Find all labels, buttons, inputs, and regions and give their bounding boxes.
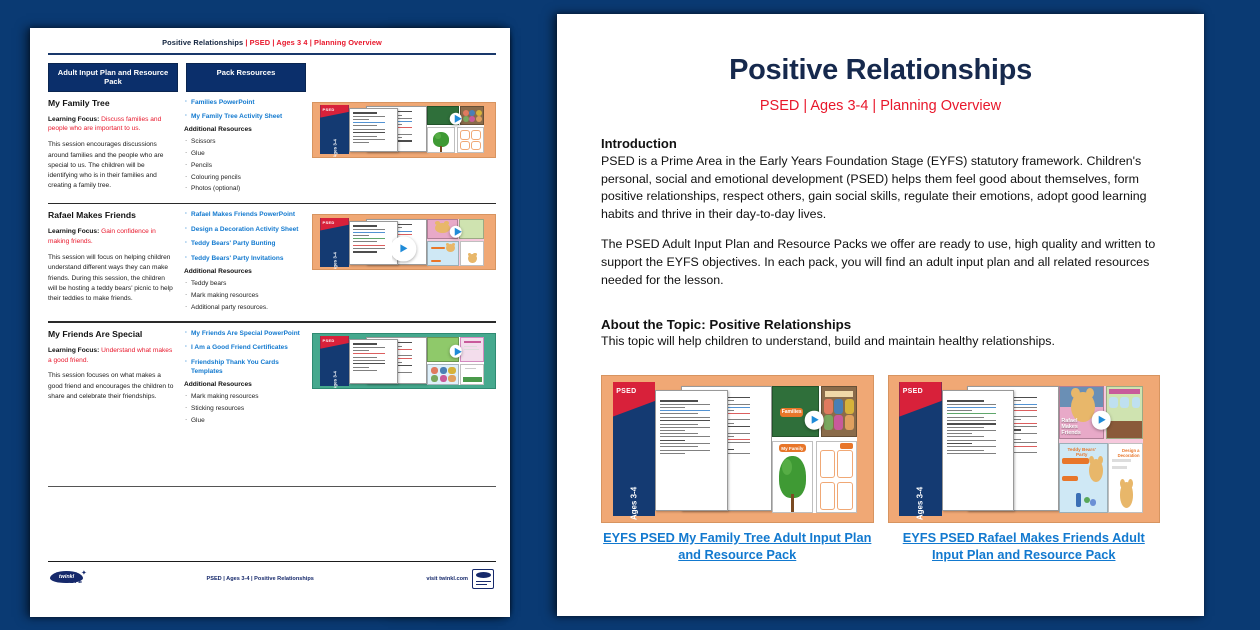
thumb-age-label: Ages 3-4: [916, 487, 925, 520]
topic-heading: About the Topic: Positive Relationships: [601, 317, 1160, 332]
thumb-age-label: Ages 3-4: [332, 371, 337, 389]
additional-item: Glue: [184, 149, 302, 159]
header-meta: PSED | Ages 3 4 | Planning Overview: [250, 38, 382, 47]
additional-resources-label: Additional Resources: [184, 268, 302, 275]
resource-link[interactable]: Friendship Thank You Cards Templates: [184, 358, 302, 377]
thumb-age-label: Ages 3-4: [332, 140, 337, 158]
focus-label: Learning Focus:: [48, 347, 99, 354]
session-title: My Family Tree: [48, 98, 174, 108]
resource-pack-thumbnail[interactable]: PSED Ages 3-4: [312, 333, 496, 389]
slide-title: Design a Decoration: [1118, 448, 1140, 458]
introduction-heading: Introduction: [601, 136, 1160, 151]
screenshot-root: hildren's personal, positive relationshi…: [0, 0, 1260, 630]
twinkl-badge-icon: [472, 569, 494, 589]
resource-link[interactable]: Design a Decoration Activity Sheet: [184, 225, 302, 234]
page-subtitle: PSED | Ages 3-4 | Planning Overview: [601, 98, 1160, 114]
session-description: This session encourages discussions arou…: [48, 140, 174, 191]
resource-link[interactable]: Teddy Bears' Party Invitations: [184, 254, 302, 263]
thumb-psed-label: PSED: [323, 338, 335, 343]
session-title: My Friends Are Special: [48, 329, 174, 339]
document-header: Positive Relationships | PSED | Ages 3 4…: [48, 28, 496, 47]
page-title: Positive Relationships: [601, 54, 1160, 87]
play-icon[interactable]: [805, 411, 824, 430]
twinkl-logo[interactable]: twinkl LIFE ✦: [50, 570, 94, 589]
resource-pack-thumbnail[interactable]: PSED Ages 3-4: [601, 375, 874, 523]
document-footer: twinkl LIFE ✦ PSED | Ages 3-4 | Positive…: [48, 562, 496, 589]
resource-link[interactable]: My Friends Are Special PowerPoint: [184, 329, 302, 338]
resource-link[interactable]: Teddy Bears' Party Bunting: [184, 239, 302, 248]
additional-item: Scissors: [184, 137, 302, 147]
resource-card-list: PSED Ages 3-4: [601, 375, 1160, 563]
twinkl-logo-sub: LIFE: [70, 579, 82, 585]
resource-pack-thumbnail[interactable]: PSED Ages 3-4: [312, 102, 496, 158]
learning-focus: Learning Focus: Understand what makes a …: [48, 346, 174, 366]
session-row: Rafael Makes Friends Learning Focus: Gai…: [48, 204, 496, 314]
thumb-psed-label: PSED: [903, 388, 923, 395]
resource-link[interactable]: Families PowerPoint: [184, 98, 302, 107]
table-header-row: Adult Input Plan and Resource Pack Pack …: [48, 63, 496, 92]
additional-item: Glue: [184, 416, 302, 426]
resource-card[interactable]: PSED Ages 3-4: [888, 375, 1161, 563]
slide-title: Rafael Makes Friends: [1061, 418, 1080, 436]
additional-resources-label: Additional Resources: [184, 381, 302, 388]
resource-pack-thumbnail[interactable]: PSED Ages 3-4: [888, 375, 1161, 523]
footer-visit-link[interactable]: visit twinkl.com: [426, 576, 468, 582]
thumb-psed-label: PSED: [616, 388, 636, 395]
learning-focus: Learning Focus: Gain confidence in makin…: [48, 227, 174, 247]
sparkle-icon: ✦: [81, 569, 87, 577]
additional-item: Sticking resources: [184, 404, 302, 414]
header-rule: [48, 53, 496, 55]
session-row: My Friends Are Special Learning Focus: U…: [48, 323, 496, 428]
resource-link[interactable]: I Am a Good Friend Certificates: [184, 343, 302, 352]
session-divider: [48, 486, 496, 487]
column-header-plan: Adult Input Plan and Resource Pack: [48, 63, 178, 92]
resource-link[interactable]: My Family Tree Activity Sheet: [184, 112, 302, 121]
thumb-psed-label: PSED: [323, 107, 335, 112]
play-icon[interactable]: [1092, 411, 1111, 430]
topic-paragraph: This topic will help children to underst…: [601, 333, 1160, 351]
additional-item: Mark making resources: [184, 291, 302, 301]
header-sep: |: [245, 38, 247, 47]
left-document-page: Positive Relationships | PSED | Ages 3 4…: [30, 28, 510, 617]
second-paragraph: The PSED Adult Input Plan and Resource P…: [601, 236, 1160, 289]
column-header-resources: Pack Resources: [186, 63, 306, 92]
additional-resources-label: Additional Resources: [184, 126, 302, 133]
thumb-psed-label: PSED: [323, 220, 335, 225]
play-icon[interactable]: [450, 345, 463, 358]
right-document-page: Positive Relationships PSED | Ages 3-4 |…: [557, 14, 1204, 616]
additional-item: Additional party resources.: [184, 303, 302, 313]
session-row: My Family Tree Learning Focus: Discuss f…: [48, 92, 496, 197]
additional-item: Mark making resources: [184, 392, 302, 402]
resource-card[interactable]: PSED Ages 3-4: [601, 375, 874, 563]
additional-item: Colouring pencils: [184, 173, 302, 183]
header-title: Positive Relationships: [162, 38, 243, 47]
resource-card-caption[interactable]: EYFS PSED Rafael Makes Friends Adult Inp…: [888, 530, 1161, 563]
thumb-age-label: Ages 3-4: [629, 487, 638, 520]
additional-item: Photos (optional): [184, 184, 302, 194]
session-title: Rafael Makes Friends: [48, 210, 174, 220]
footer-center-text: PSED | Ages 3-4 | Positive Relationships: [206, 576, 313, 582]
resource-link[interactable]: Rafael Makes Friends PowerPoint: [184, 210, 302, 219]
focus-label: Learning Focus:: [48, 228, 99, 235]
slide-title: Families: [782, 409, 802, 415]
resource-card-caption[interactable]: EYFS PSED My Family Tree Adult Input Pla…: [601, 530, 874, 563]
additional-item: Teddy bears: [184, 279, 302, 289]
thumb-age-label: Ages 3-4: [332, 252, 337, 270]
learning-focus: Learning Focus: Discuss families and peo…: [48, 115, 174, 135]
additional-item: Pencils: [184, 161, 302, 171]
play-icon[interactable]: [450, 113, 463, 126]
play-icon[interactable]: [450, 226, 463, 239]
introduction-paragraph: PSED is a Prime Area in the Early Years …: [601, 153, 1160, 223]
session-description: This session will focus on helping child…: [48, 253, 174, 304]
session-description: This session focuses on what makes a goo…: [48, 371, 174, 402]
focus-label: Learning Focus:: [48, 116, 99, 123]
